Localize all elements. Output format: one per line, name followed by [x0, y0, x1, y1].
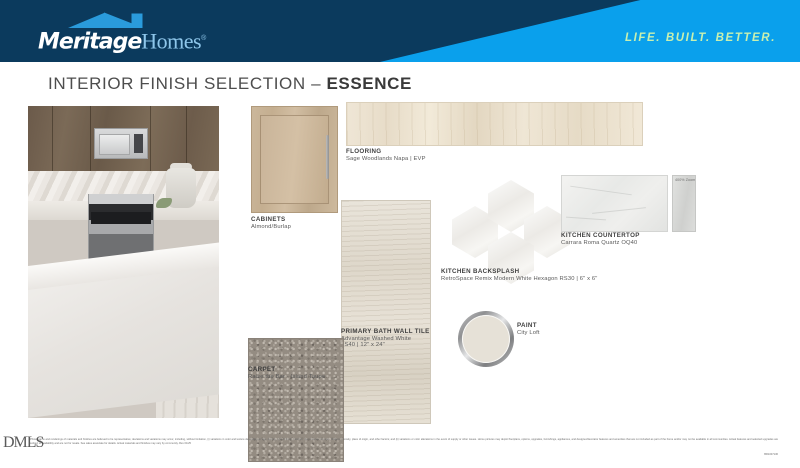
- countertop-label-title: KITCHEN COUNTERTOP: [561, 232, 640, 239]
- logo-wordmark: MeritageHomes®: [38, 26, 206, 55]
- photo-cabinet-seam: [150, 106, 151, 171]
- header-accent-diagonal: [380, 0, 800, 62]
- countertop-zoom-tag: 400% Zoom: [675, 178, 695, 182]
- photo-microwave-panel: [134, 134, 143, 153]
- photo-cabinet-seam: [186, 106, 187, 171]
- cabinets-door-panel: [260, 115, 329, 204]
- page-title-prefix: INTERIOR FINISH SELECTION –: [48, 74, 326, 93]
- cabinets-label-title: CABINETS: [251, 216, 291, 223]
- logo-trademark: ®: [201, 35, 206, 42]
- page-title: INTERIOR FINISH SELECTION – ESSENCE: [48, 74, 412, 94]
- flooring-label-title: FLOORING: [346, 148, 426, 155]
- countertop-vein: [570, 186, 632, 196]
- countertop-vein: [566, 217, 606, 221]
- paint-swatch: [458, 311, 514, 367]
- carpet-label: CARPET Raise the Bar - Island Taupe: [248, 366, 325, 380]
- bath-wall-tile-texture: [342, 201, 430, 423]
- bath-wall-tile-label: PRIMARY BATH WALL TILE Advantage Washed …: [341, 328, 430, 348]
- countertop-edge-swatch: 400% Zoom: [672, 175, 696, 232]
- flooring-swatch: [346, 102, 643, 146]
- carpet-label-sub: Raise the Bar - Island Taupe: [248, 374, 325, 380]
- document-id: BR1007136: [764, 453, 778, 456]
- photo-cabinet-seam: [90, 106, 91, 171]
- photo-microwave-window: [99, 134, 130, 155]
- photo-microwave: [94, 128, 148, 159]
- paint-color-fill: [462, 315, 510, 363]
- cabinets-label-sub: Almond/Burlap: [251, 224, 291, 230]
- paint-label-title: PAINT: [517, 322, 540, 329]
- bath-wall-tile-swatch: [341, 200, 431, 424]
- bath-wall-tile-label-sub2: LS40 | 12" x 24": [341, 342, 430, 348]
- bath-wall-tile-label-title: PRIMARY BATH WALL TILE: [341, 328, 430, 335]
- dmls-watermark: DMLS: [3, 434, 43, 452]
- brand-tagline: LIFE. BUILT. BETTER.: [625, 32, 776, 44]
- legal-disclaimer: Photographs and renderings of materials …: [30, 438, 778, 446]
- page-footer: Photographs and renderings of materials …: [0, 438, 800, 468]
- page-title-scheme: ESSENCE: [326, 74, 411, 93]
- flooring-grain-texture: [347, 103, 642, 145]
- paint-label: PAINT City Loft: [517, 322, 540, 336]
- logo-word-homes: Homes: [141, 28, 201, 53]
- meritage-homes-logo: MeritageHomes®: [38, 11, 218, 53]
- paint-label-sub: City Loft: [517, 330, 540, 336]
- countertop-label: KITCHEN COUNTERTOP Carrara Roma Quartz O…: [561, 232, 640, 246]
- logo-word-meritage: Meritage: [38, 29, 141, 54]
- photo-range-display: [91, 212, 151, 224]
- page-header: MeritageHomes® LIFE. BUILT. BETTER.: [0, 0, 800, 62]
- flooring-label: FLOORING Sage Woodlands Napa | EVP: [346, 148, 426, 162]
- kitchen-photo: [28, 106, 219, 418]
- flooring-label-sub: Sage Woodlands Napa | EVP: [346, 156, 426, 162]
- backsplash-label-sub: RetroSpace Remix Modern White Hexagon RS…: [441, 276, 597, 282]
- photo-cabinet-seam: [52, 106, 53, 171]
- countertop-swatch: [561, 175, 668, 232]
- countertop-label-sub: Carrara Roma Quartz OQ40: [561, 240, 640, 246]
- cabinets-label: CABINETS Almond/Burlap: [251, 216, 291, 230]
- finish-board: CABINETS Almond/Burlap FLOORING Sage Woo…: [0, 100, 800, 430]
- carpet-label-title: CARPET: [248, 366, 325, 373]
- cabinets-door-handle: [326, 135, 329, 179]
- cabinets-swatch: [251, 106, 338, 213]
- backsplash-label: KITCHEN BACKSPLASH RetroSpace Remix Mode…: [441, 268, 597, 282]
- backsplash-label-title: KITCHEN BACKSPLASH: [441, 268, 597, 275]
- countertop-vein: [592, 207, 646, 214]
